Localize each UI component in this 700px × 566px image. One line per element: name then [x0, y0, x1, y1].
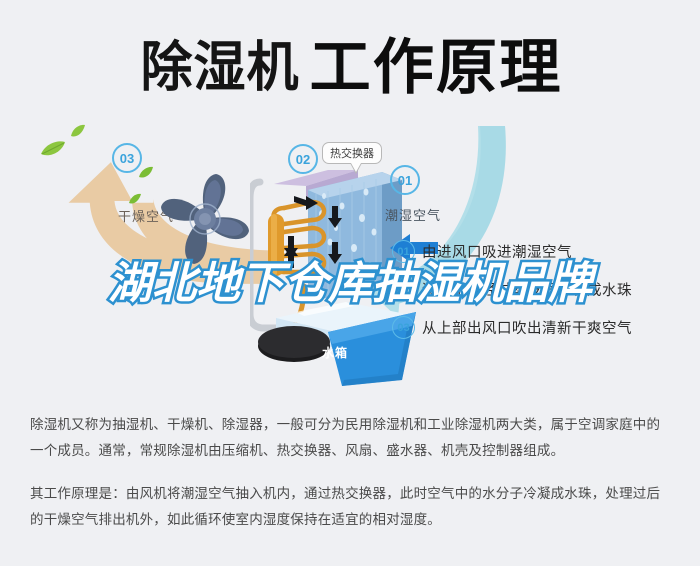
badge-01-diagram: 01 [390, 165, 420, 195]
paragraph-1: 除湿机又称为抽湿机、干燥机、除湿器，一般可分为民用除湿机和工业除湿机两大类，属于… [30, 412, 672, 465]
paragraph-2: 其工作原理是：由风机将潮湿空气抽入机内，通过热交换器，此时空气中的水分子冷凝成水… [30, 481, 672, 534]
watermark-overlay: 湖北地下仓库抽湿机品牌 [0, 262, 700, 306]
title-part-1: 除湿机 [140, 41, 299, 95]
leaf-icon [128, 193, 142, 205]
humid-air-label: 潮湿空气 [385, 205, 441, 224]
list-item: 03 从上部出风口吹出清新干爽空气 [392, 316, 692, 339]
heat-exchanger-callout: 热交换器 [322, 142, 382, 164]
title-part-2: 工作原理 [309, 38, 562, 98]
leaf-icon [70, 124, 86, 138]
legend-text: 从上部出风口吹出清新干爽空气 [422, 317, 632, 338]
fan-icon [150, 164, 260, 274]
watermark-text: 湖北地下仓库抽湿机品牌 [108, 259, 592, 308]
infographic-page: 除湿机 工作原理 03 干燥空气 [0, 0, 700, 566]
water-tank-label: 水箱 [322, 344, 348, 361]
legend-badge: 03 [392, 316, 415, 339]
description-block: 除湿机又称为抽湿机、干燥机、除湿器，一般可分为民用除湿机和工业除湿机两大类，属于… [30, 412, 672, 549]
leaf-icon [40, 140, 66, 158]
badge-02-diagram: 02 [288, 144, 318, 174]
page-title: 除湿机 工作原理 [0, 28, 700, 108]
